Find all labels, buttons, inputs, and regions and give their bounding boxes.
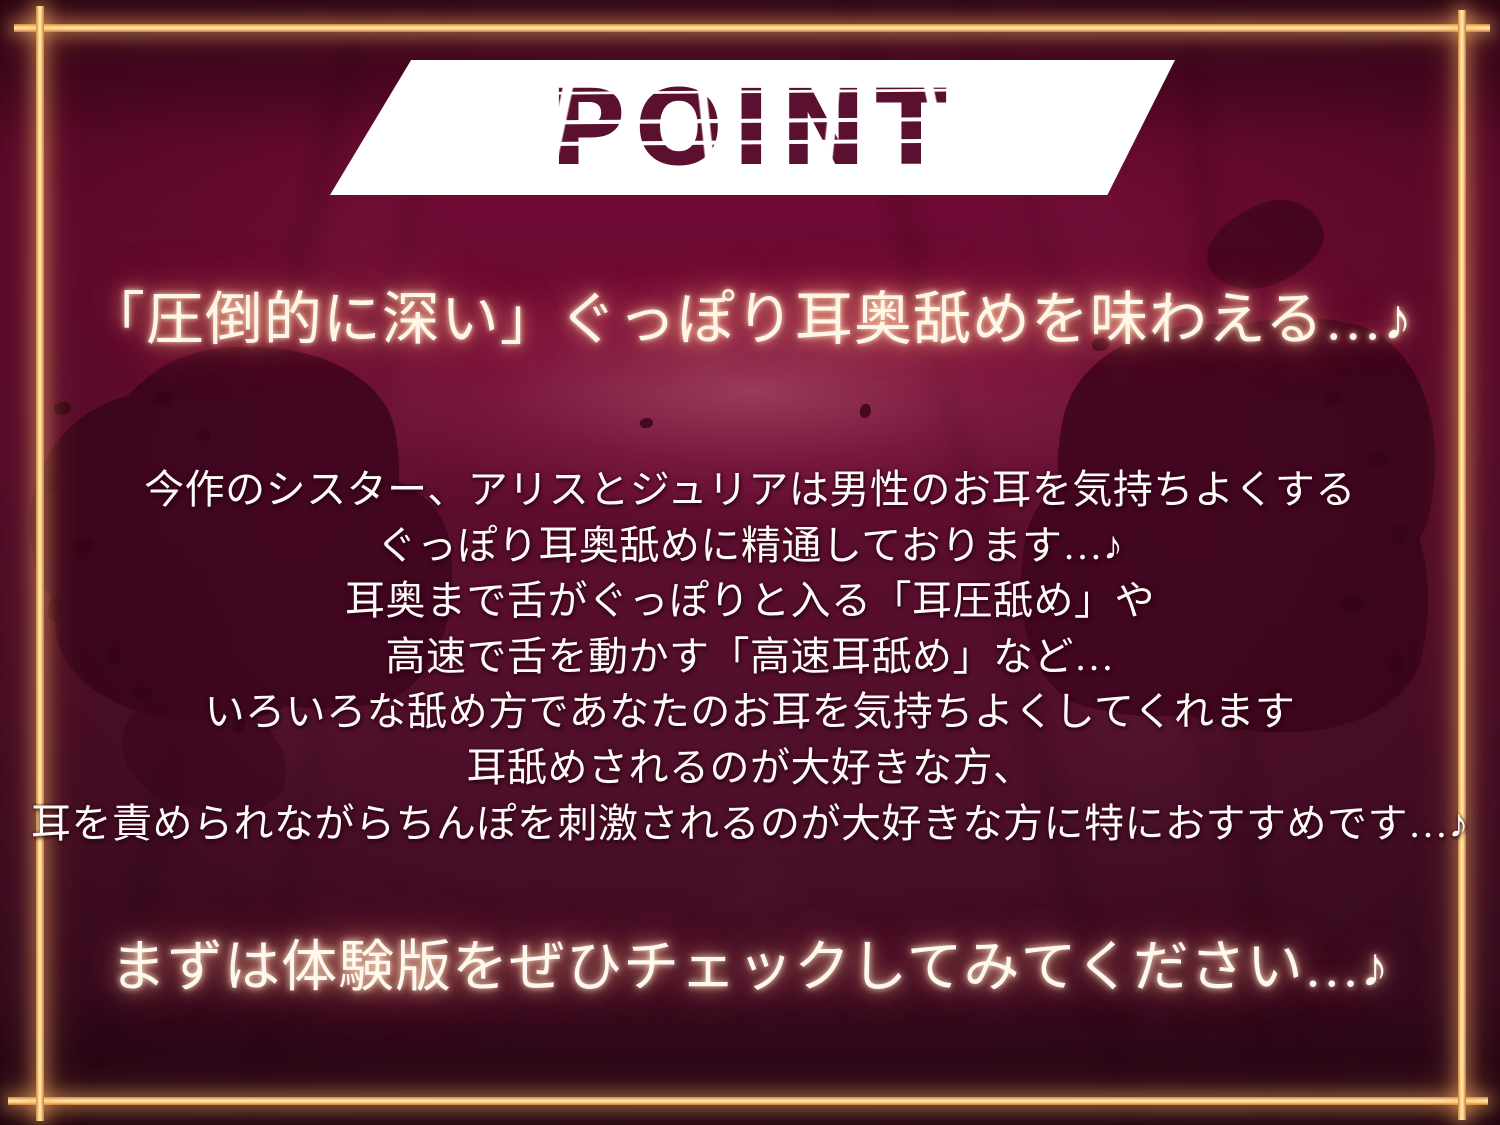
body-line: 耳奥まで舌がぐっぽりと入る「耳圧舐め」や	[0, 573, 1500, 629]
body-line: 今作のシスター、アリスとジュリアは男性のお耳を気持ちよくする	[0, 462, 1500, 518]
body-line: ぐっぽり耳奥舐めに精通しております…♪	[0, 518, 1500, 574]
body-line: 耳舐めされるのが大好きな方、	[0, 740, 1500, 796]
call-to-action-text: まずは体験版をぜひチェックしてみてください…♪	[0, 938, 1500, 1000]
promo-slide: POINT 「圧倒的に深い」ぐっぽり耳奥舐めを味わえる…♪ 今作のシスター、アリ…	[0, 0, 1500, 1125]
body-line: いろいろな舐め方であなたのお耳を気持ちよくしてくれます	[0, 684, 1500, 740]
point-banner-title: POINT	[330, 60, 1175, 195]
body-line: 高速で舌を動かす「高速耳舐め」など…	[0, 629, 1500, 685]
body-copy: 今作のシスター、アリスとジュリアは男性のお耳を気持ちよくする ぐっぽり耳奥舐めに…	[0, 462, 1500, 851]
frame-line-bottom	[8, 1097, 1488, 1105]
headline: 「圧倒的に深い」ぐっぽり耳奥舐めを味わえる…♪	[0, 288, 1500, 352]
frame-line-top	[14, 24, 1490, 32]
body-line: 耳を責められながらちんぽを刺激されるのが大好きな方に特におすすめです…♪	[0, 796, 1500, 852]
